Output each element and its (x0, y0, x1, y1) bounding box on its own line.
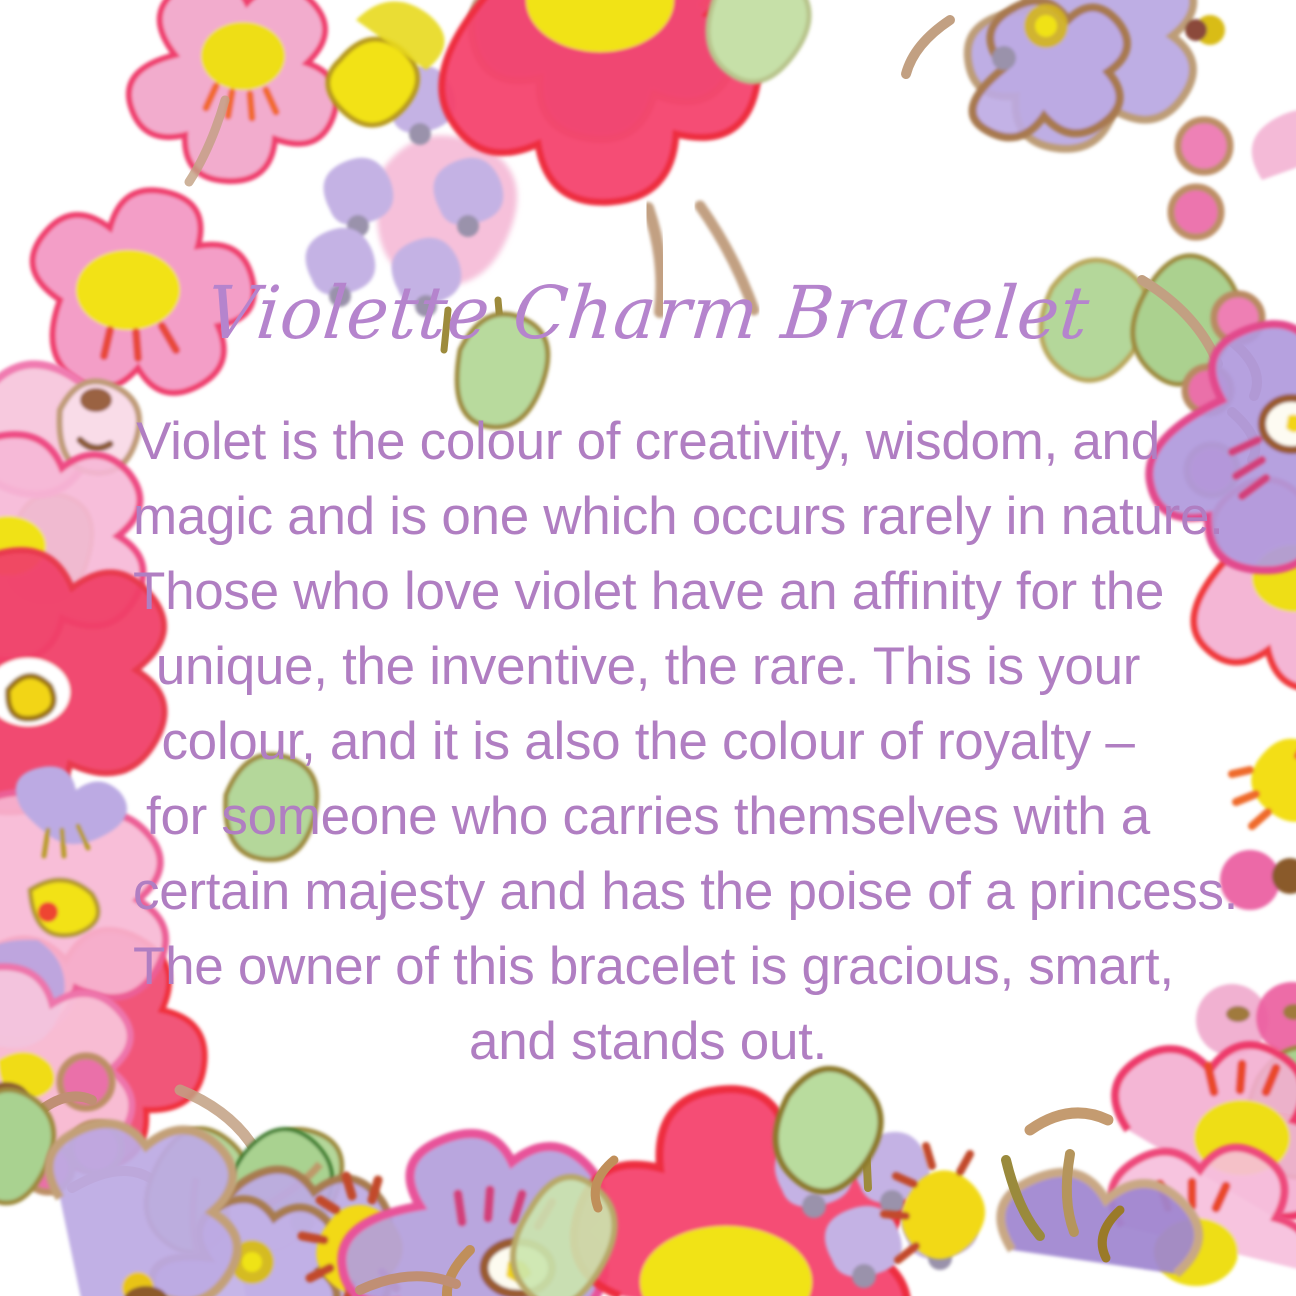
page-title: Violette Charm Bracelet (203, 277, 1093, 350)
body-line: for someone who carries themselves with … (133, 779, 1163, 854)
body-line: colour, and it is also the colour of roy… (133, 704, 1163, 779)
body-line: and stands out. (133, 1004, 1163, 1079)
card-text-block: Violette Charm Bracelet Violet is the co… (0, 0, 1296, 1296)
body-line: magic and is one which occurs rarely in … (133, 479, 1163, 554)
body-line: certain majesty and has the poise of a p… (133, 854, 1163, 929)
body-copy: Violet is the colour of creativity, wisd… (133, 404, 1163, 1079)
body-line: Those who love violet have an affinity f… (133, 554, 1163, 629)
body-line: Violet is the colour of creativity, wisd… (133, 404, 1163, 479)
body-line: The owner of this bracelet is gracious, … (133, 929, 1163, 1004)
product-story-card: Violette Charm Bracelet Violet is the co… (0, 0, 1296, 1296)
body-line: unique, the inventive, the rare. This is… (133, 629, 1163, 704)
